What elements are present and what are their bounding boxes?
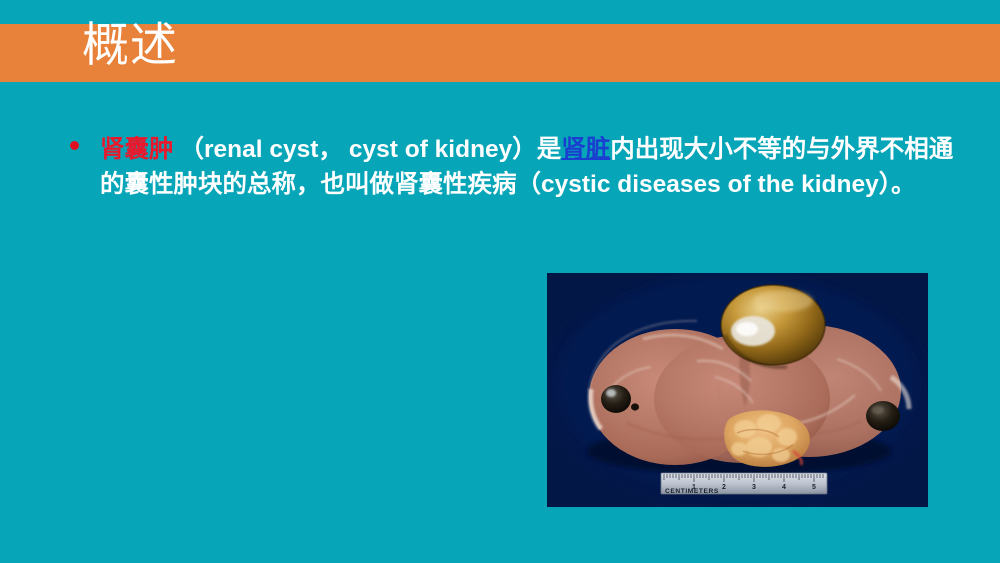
ruler-scale: 1 2 3 4 5 CENTIMETERS xyxy=(661,473,827,495)
slide: 概述 肾囊肿（renal cyst，cyst of kidney）是肾脏内出现大… xyxy=(0,0,1000,563)
term-renal-cyst-cn: 肾囊肿 xyxy=(100,136,174,163)
term-latin-cyst-of-kidney: cyst of kidney xyxy=(349,136,512,163)
ruler-unit-label: CENTIMETERS xyxy=(665,488,719,495)
connector-shi: 是 xyxy=(537,136,562,163)
body-content: 肾囊肿（renal cyst，cyst of kidney）是肾脏内出现大小不等… xyxy=(62,132,972,202)
line1-tail: 内出现大小不等的与外界不相 xyxy=(610,136,929,163)
comma-1: ， xyxy=(318,136,343,163)
term-latin-renal-cyst: renal cyst xyxy=(204,136,318,163)
paren-close-2: ） xyxy=(879,171,891,198)
term-latin-cystic-diseases: cystic diseases of the kidney xyxy=(541,171,879,198)
ruler-label-3: 3 xyxy=(752,484,756,491)
link-kidney[interactable]: 肾脏 xyxy=(561,136,610,163)
period-end: 。 xyxy=(891,171,916,198)
paren-close-1: ） xyxy=(512,136,537,163)
ruler-label-2: 2 xyxy=(722,484,726,491)
paren-open-1: （ xyxy=(180,136,205,163)
list-item: 肾囊肿（renal cyst，cyst of kidney）是肾脏内出现大小不等… xyxy=(62,132,972,202)
bullet-paragraph: 肾囊肿（renal cyst，cyst of kidney）是肾脏内出现大小不等… xyxy=(100,132,972,202)
ruler-label-4: 4 xyxy=(782,484,786,491)
ruler-label-5: 5 xyxy=(812,484,816,491)
paren-open-2: （ xyxy=(517,171,542,198)
page-title: 概述 xyxy=(82,16,178,74)
bullet-dot-icon xyxy=(70,141,79,150)
pathology-figure: 1 2 3 4 5 CENTIMETERS xyxy=(547,273,928,507)
kidney-specimen-illustration: 1 2 3 4 5 CENTIMETERS xyxy=(547,273,928,507)
